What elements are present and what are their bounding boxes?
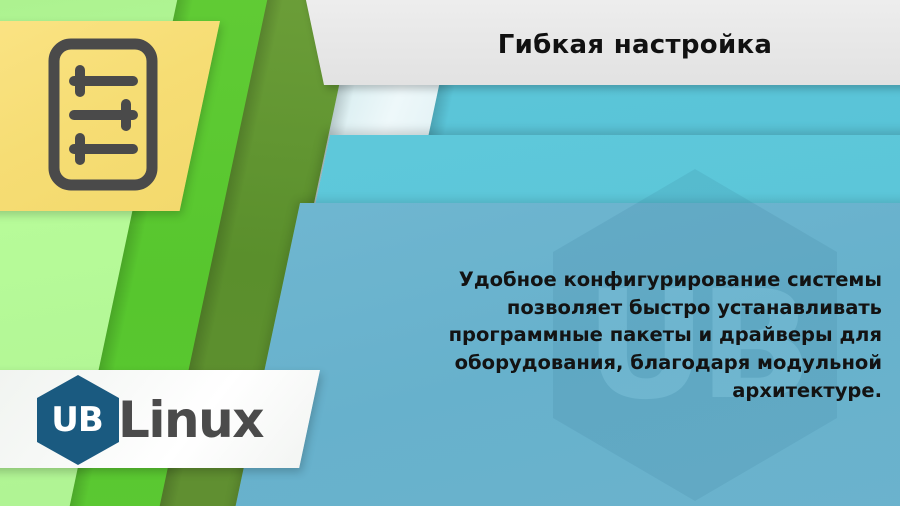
body-paragraph: Удобное конфигурирование системы позволя… (420, 266, 882, 404)
logo-mark-text: UB (34, 374, 122, 466)
brand-logo: UB Linux (34, 374, 263, 466)
slide-canvas: UB Удобное конфигурирование системы позв… (0, 0, 900, 506)
ub-hexagon-icon: UB (34, 374, 122, 466)
settings-sliders-icon (47, 37, 159, 192)
page-title: Гибкая настройка (400, 22, 870, 68)
logo-word-text: Linux (118, 395, 263, 445)
